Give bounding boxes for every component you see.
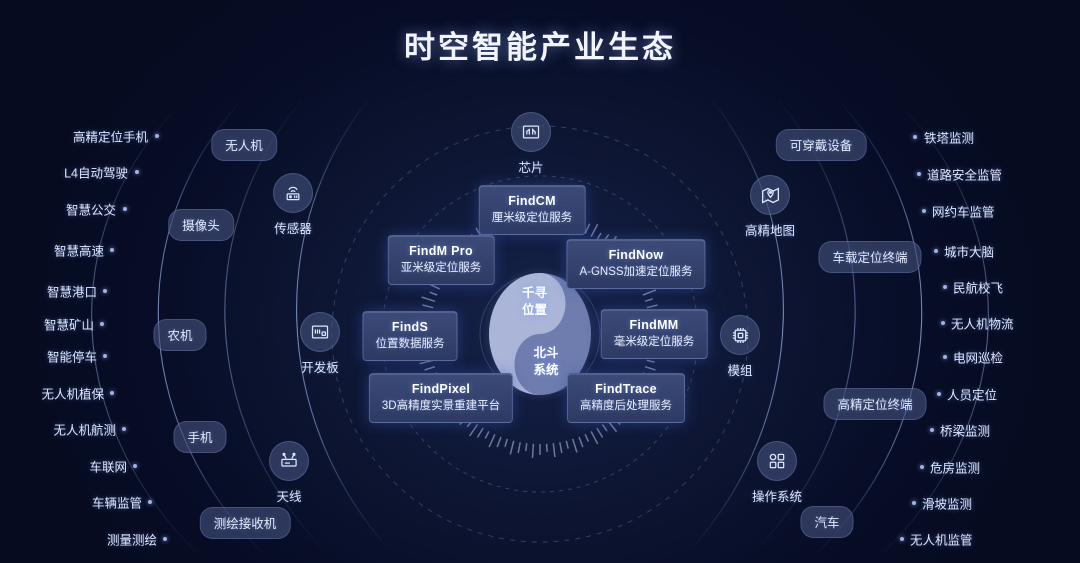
- devboard-icon: [300, 312, 340, 352]
- product-description: 3D高精度实景重建平台: [382, 398, 500, 414]
- product-description: A-GNSS加速定位服务: [579, 264, 692, 280]
- map-pin-icon: [750, 175, 790, 215]
- scenario-label-无人机监管[interactable]: 无人机监管: [910, 530, 973, 549]
- icon-node-芯片[interactable]: 芯片: [492, 112, 570, 176]
- scenario-dot: [920, 465, 924, 469]
- icon-node-label: 操作系统: [738, 486, 816, 505]
- scenario-label-L4自动驾驶[interactable]: L4自动驾驶: [64, 163, 128, 182]
- product-name: FindS: [376, 319, 445, 336]
- chip-frame-icon: [511, 112, 551, 152]
- scenario-label-网约车监管[interactable]: 网约车监管: [932, 202, 995, 221]
- scenario-dot: [110, 248, 114, 252]
- scenario-dot: [103, 354, 107, 358]
- icon-node-天线[interactable]: 天线: [250, 441, 328, 505]
- icon-node-传感器[interactable]: 传感器: [254, 173, 332, 237]
- scenario-label-智慧矿山[interactable]: 智慧矿山: [44, 315, 94, 334]
- scenario-label-无人机航测[interactable]: 无人机航测: [53, 420, 116, 439]
- scenario-label-智慧公交[interactable]: 智慧公交: [66, 200, 116, 219]
- icon-node-label: 传感器: [254, 218, 332, 237]
- ecosystem-infographic: 时空智能产业生态: [0, 0, 1080, 563]
- product-box-findmm[interactable]: FindMM毫米级定位服务: [601, 309, 708, 359]
- product-box-findm-pro[interactable]: FindM Pro亚米级定位服务: [388, 235, 495, 285]
- product-description: 高精度后处理服务: [580, 398, 672, 414]
- icon-node-label: 模组: [701, 360, 779, 379]
- device-pill-手机[interactable]: 手机: [173, 421, 226, 453]
- scenario-dot: [103, 289, 107, 293]
- sensor-icon: [273, 173, 313, 213]
- scenario-dot: [917, 172, 921, 176]
- product-name: FindTrace: [580, 381, 672, 398]
- scenario-dot: [922, 209, 926, 213]
- scenario-label-人员定位[interactable]: 人员定位: [947, 385, 997, 404]
- scenario-dot: [148, 500, 152, 504]
- icon-node-操作系统[interactable]: 操作系统: [738, 441, 816, 505]
- product-description: 厘米级定位服务: [492, 210, 573, 226]
- product-description: 亚米级定位服务: [401, 260, 482, 276]
- product-name: FindNow: [579, 247, 692, 264]
- device-pill-车载定位终端[interactable]: 车载定位终端: [818, 241, 921, 273]
- scenario-dot: [110, 391, 114, 395]
- product-box-findpixel[interactable]: FindPixel3D高精度实景重建平台: [369, 373, 513, 423]
- scenario-dot: [100, 322, 104, 326]
- icon-node-label: 天线: [250, 486, 328, 505]
- scenario-label-无人机植保[interactable]: 无人机植保: [41, 384, 104, 403]
- scenario-dot: [912, 501, 916, 505]
- core-label-top: 千寻 位置: [522, 285, 547, 319]
- product-box-findnow[interactable]: FindNowA-GNSS加速定位服务: [566, 239, 705, 289]
- product-box-finds[interactable]: FindS位置数据服务: [363, 311, 458, 361]
- scenario-dot: [133, 464, 137, 468]
- scenario-dot: [941, 321, 945, 325]
- scenario-label-测量测绘[interactable]: 测量测绘: [107, 530, 157, 549]
- scenario-dot: [930, 428, 934, 432]
- scenario-dot: [155, 134, 159, 138]
- scenario-dot: [900, 537, 904, 541]
- product-box-findtrace[interactable]: FindTrace高精度后处理服务: [567, 373, 685, 423]
- scenario-dot: [135, 170, 139, 174]
- product-name: FindM Pro: [401, 243, 482, 260]
- device-pill-高精定位终端[interactable]: 高精定位终端: [823, 388, 926, 420]
- scenario-label-车辆监管[interactable]: 车辆监管: [92, 493, 142, 512]
- product-name: FindCM: [492, 193, 573, 210]
- device-pill-可穿戴设备[interactable]: 可穿戴设备: [776, 129, 867, 161]
- icon-node-label: 开发板: [281, 357, 359, 376]
- scenario-label-民航校飞[interactable]: 民航校飞: [953, 278, 1003, 297]
- icon-node-label: 芯片: [492, 157, 570, 176]
- page-title: 时空智能产业生态: [0, 22, 1080, 67]
- icon-node-label: 高精地图: [731, 220, 809, 239]
- icon-node-开发板[interactable]: 开发板: [281, 312, 359, 376]
- scenario-dot: [943, 285, 947, 289]
- scenario-label-城市大脑[interactable]: 城市大脑: [944, 242, 994, 261]
- scenario-label-铁塔监测[interactable]: 铁塔监测: [924, 128, 974, 147]
- scenario-dot: [913, 135, 917, 139]
- scenario-label-高精定位手机[interactable]: 高精定位手机: [73, 127, 148, 146]
- antenna-icon: [269, 441, 309, 481]
- device-pill-汽车[interactable]: 汽车: [800, 506, 853, 538]
- product-name: FindMM: [614, 317, 695, 334]
- device-pill-摄像头[interactable]: 摄像头: [168, 209, 234, 241]
- device-pill-农机[interactable]: 农机: [153, 319, 206, 351]
- scenario-dot: [123, 207, 127, 211]
- scenario-label-智能停车[interactable]: 智能停车: [47, 347, 97, 366]
- scenario-dot: [934, 249, 938, 253]
- grid-apps-icon: [757, 441, 797, 481]
- scenario-dot: [122, 427, 126, 431]
- scenario-label-道路安全监管[interactable]: 道路安全监管: [927, 165, 1002, 184]
- scenario-label-智慧港口[interactable]: 智慧港口: [47, 282, 97, 301]
- product-box-findcm[interactable]: FindCM厘米级定位服务: [479, 185, 586, 235]
- product-description: 位置数据服务: [376, 336, 445, 352]
- cpu-icon: [720, 315, 760, 355]
- scenario-dot: [163, 537, 167, 541]
- scenario-label-滑坡监测[interactable]: 滑坡监测: [922, 494, 972, 513]
- device-pill-无人机[interactable]: 无人机: [211, 129, 277, 161]
- scenario-label-车联网[interactable]: 车联网: [89, 457, 127, 476]
- scenario-label-桥梁监测[interactable]: 桥梁监测: [940, 421, 990, 440]
- core-label-bottom: 北斗 系统: [533, 345, 558, 379]
- scenario-label-电网巡检[interactable]: 电网巡检: [953, 348, 1003, 367]
- scenario-dot: [937, 392, 941, 396]
- icon-node-模组[interactable]: 模组: [701, 315, 779, 379]
- product-name: FindPixel: [382, 381, 500, 398]
- scenario-label-智慧高速[interactable]: 智慧高速: [54, 241, 104, 260]
- device-pill-测绘接收机[interactable]: 测绘接收机: [200, 507, 291, 539]
- product-description: 毫米级定位服务: [614, 334, 695, 350]
- scenario-label-危房监测[interactable]: 危房监测: [930, 458, 980, 477]
- scenario-label-无人机物流[interactable]: 无人机物流: [951, 314, 1014, 333]
- scenario-dot: [943, 355, 947, 359]
- icon-node-高精地图[interactable]: 高精地图: [731, 175, 809, 239]
